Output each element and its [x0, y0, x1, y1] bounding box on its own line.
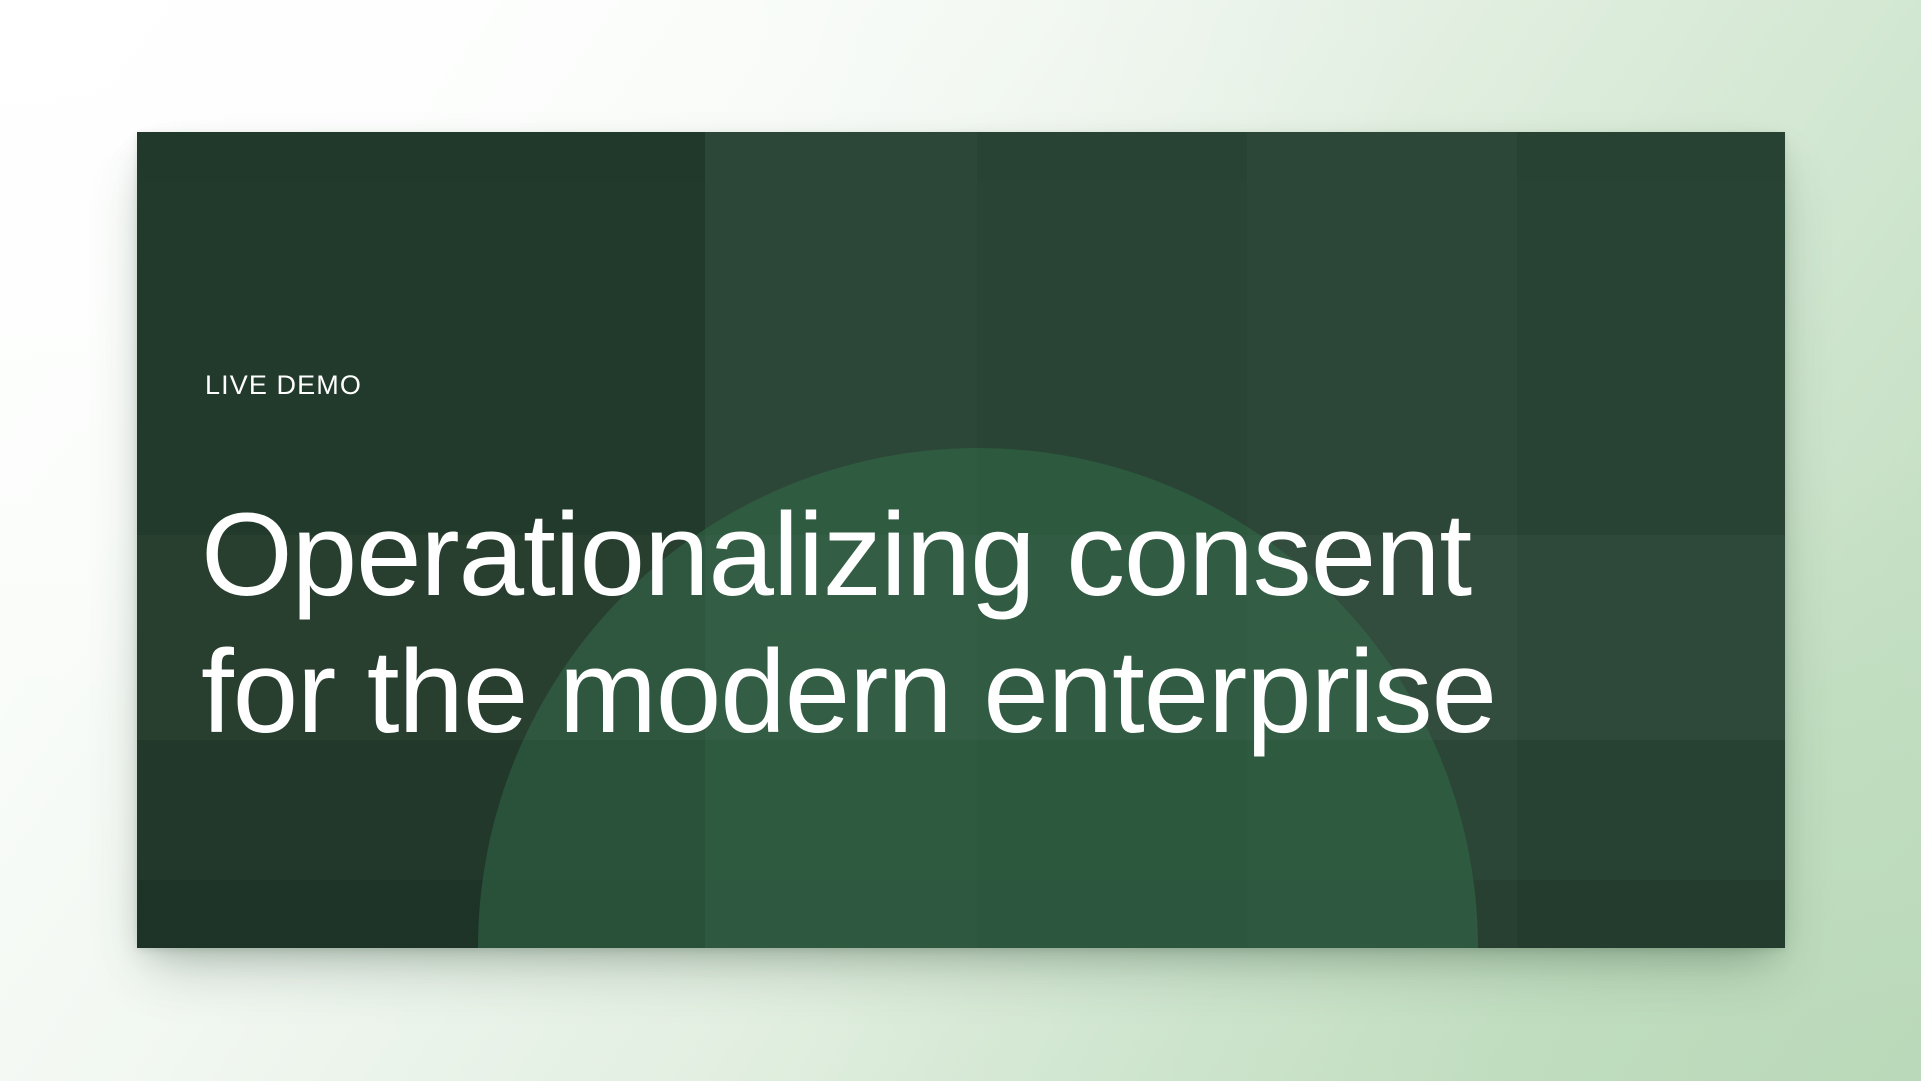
page-title: Operationalizing consent for the modern …	[201, 487, 1496, 761]
headline-line-1: Operationalizing consent	[201, 487, 1496, 624]
slide-content: LIVE DEMO Operationalizing consent for t…	[205, 132, 1745, 948]
headline-line-2: for the modern enterprise	[201, 624, 1496, 761]
eyebrow-label: LIVE DEMO	[205, 372, 362, 399]
slide-card: LIVE DEMO Operationalizing consent for t…	[137, 132, 1785, 948]
